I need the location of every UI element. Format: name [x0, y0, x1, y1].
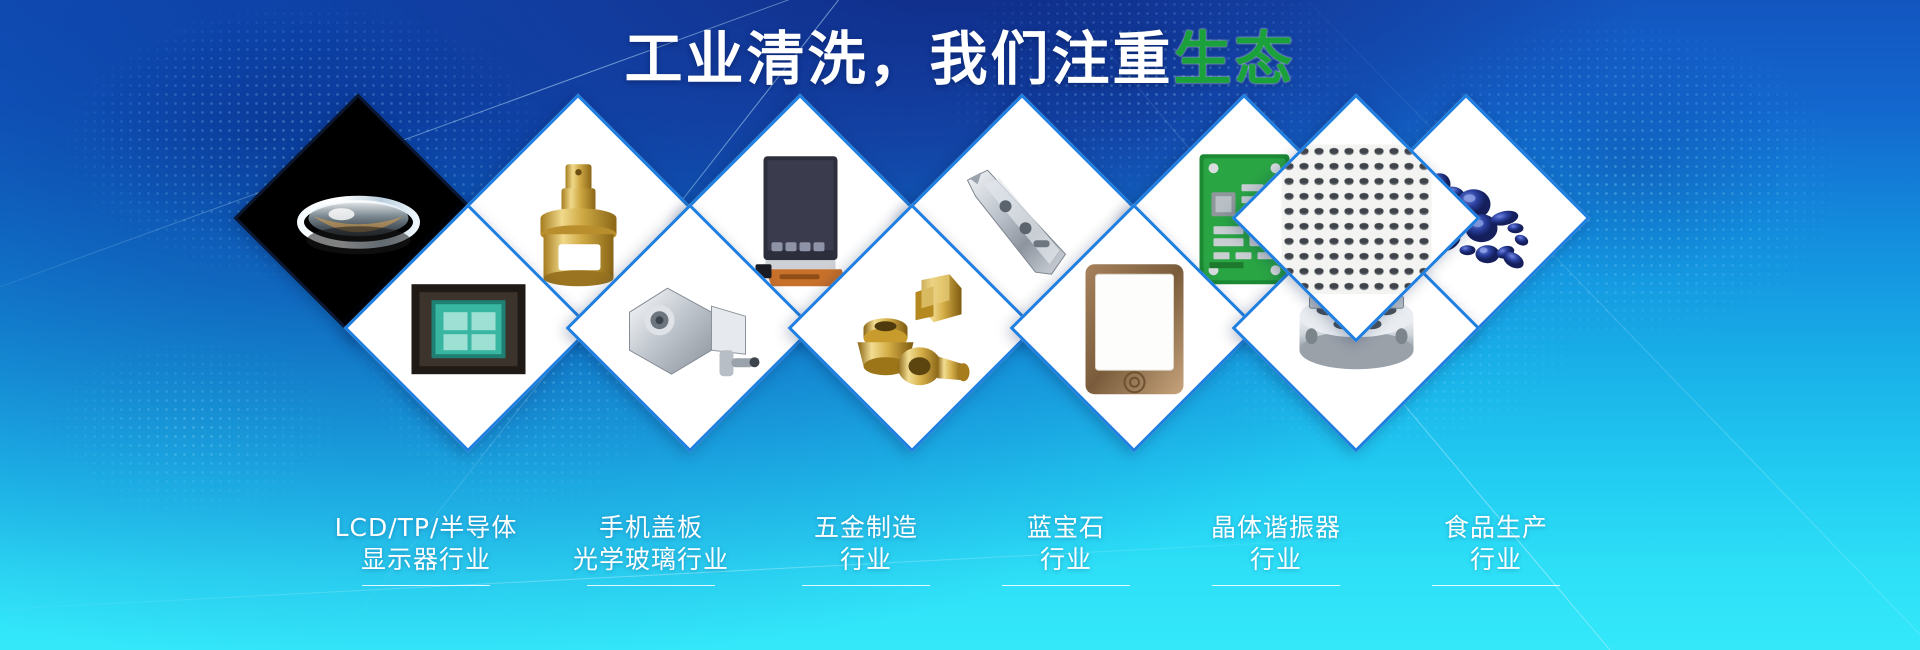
industrial-cleaning-banner: 工业清洗，我们注重生态 [0, 0, 1920, 650]
label-line-2: 光学玻璃行业 [536, 544, 766, 576]
industry-label-phone-cover-glass[interactable]: 手机盖板 光学玻璃行业 [536, 512, 766, 586]
label-line-1: 晶体谐振器 [1211, 513, 1341, 542]
machined-housing-icon [615, 253, 765, 403]
label-line-1: LCD/TP/半导体 [335, 513, 518, 542]
label-underline [802, 585, 930, 586]
label-line-2: 行业 [766, 544, 966, 576]
banner-headline: 工业清洗，我们注重生态 [0, 28, 1920, 92]
industry-labels: LCD/TP/半导体 显示器行业 手机盖板 光学玻璃行业 五金制造 行业 蓝宝石… [0, 512, 1920, 632]
perforated-plate-icon [1281, 143, 1431, 293]
industry-label-hardware-manufacturing[interactable]: 五金制造 行业 [766, 512, 966, 586]
brass-fittings-icon [837, 253, 987, 403]
label-underline [362, 585, 490, 586]
headline-accent-text: 生态 [1174, 25, 1296, 93]
headline-primary-text: 工业清洗，我们注重 [624, 25, 1173, 93]
label-line-2: 行业 [1166, 544, 1386, 576]
label-line-2: 行业 [1386, 544, 1606, 576]
industry-label-sapphire[interactable]: 蓝宝石 行业 [966, 512, 1166, 586]
label-line-2: 显示器行业 [306, 544, 546, 576]
industry-label-lcd-tp-semiconductor[interactable]: LCD/TP/半导体 显示器行业 [306, 512, 546, 586]
label-line-1: 五金制造 [814, 513, 918, 542]
label-underline [1432, 585, 1560, 586]
industry-label-crystal-resonator[interactable]: 晶体谐振器 行业 [1166, 512, 1386, 586]
label-underline [1212, 585, 1340, 586]
label-line-1: 手机盖板 [599, 513, 703, 542]
chip-icon [393, 253, 543, 403]
label-underline [1002, 585, 1130, 586]
industry-label-food-production[interactable]: 食品生产 行业 [1386, 512, 1606, 586]
label-line-1: 蓝宝石 [1027, 513, 1105, 542]
label-line-2: 行业 [966, 544, 1166, 576]
cover-glass-icon [1059, 253, 1209, 403]
label-underline [587, 585, 715, 586]
label-line-1: 食品生产 [1444, 513, 1548, 542]
